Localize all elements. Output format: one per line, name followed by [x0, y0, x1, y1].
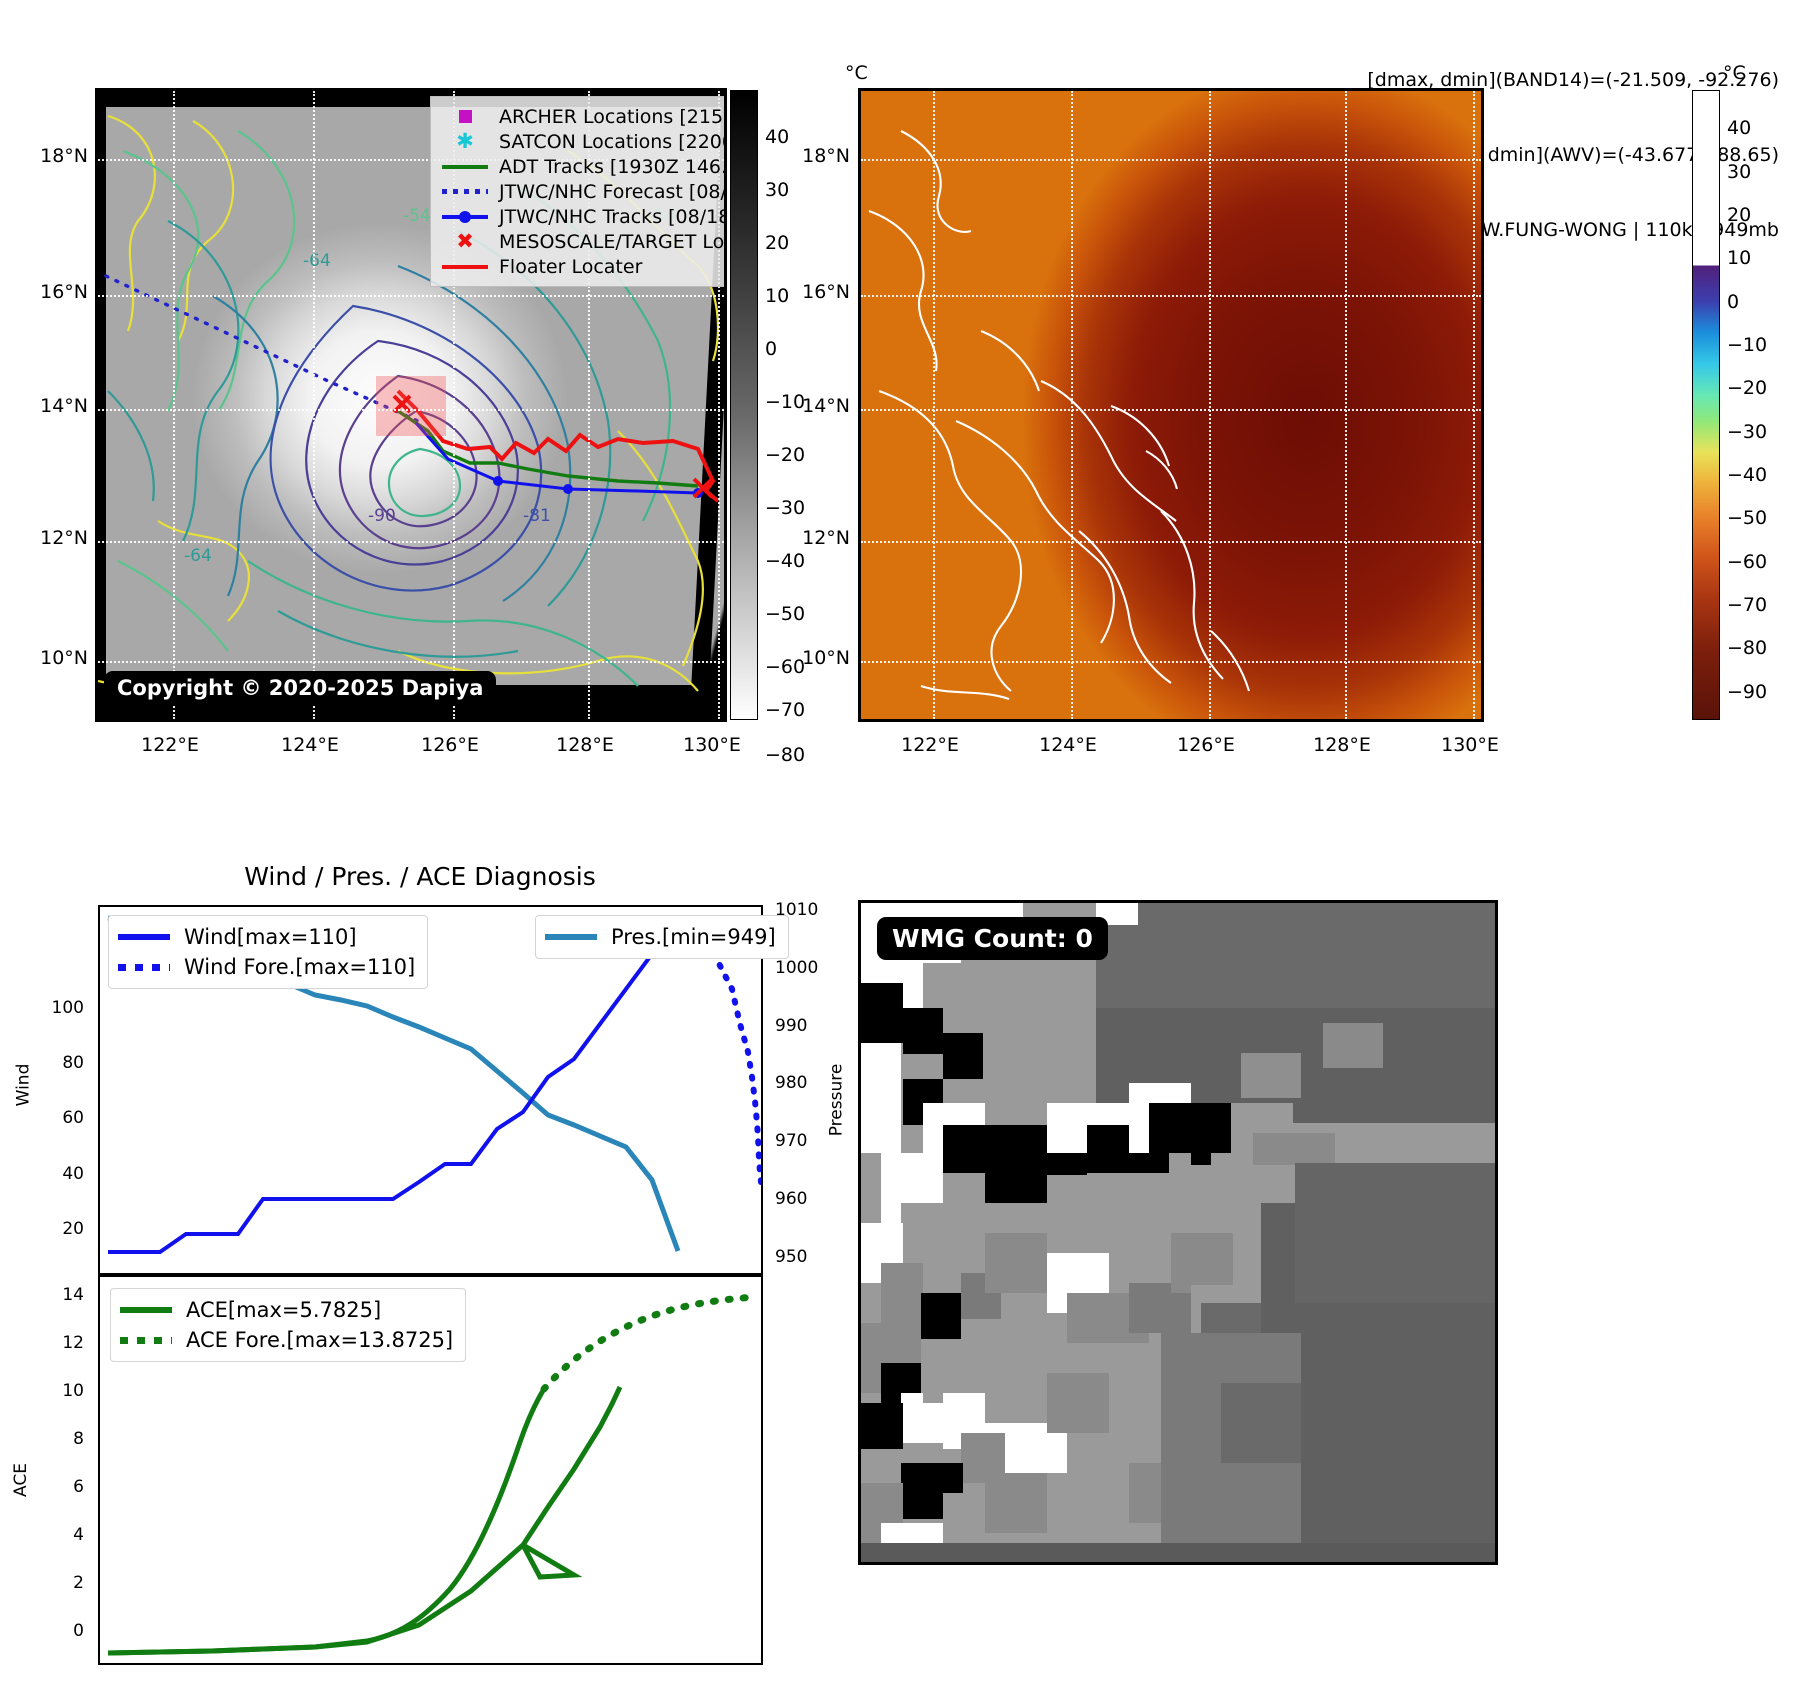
legend-label-jtwc-tracks: JTWC/NHC Tracks [08/1800Z] [499, 206, 727, 228]
satcon-star-icon: ✱ [439, 131, 491, 152]
wmg-count-badge: WMG Count: 0 [877, 917, 1108, 960]
awv-lat-18: 18°N [782, 145, 850, 167]
series-ace-solid [108, 1389, 544, 1653]
gridline-lat-10 [98, 661, 724, 663]
copyright-badge: Copyright © 2020-2025 Dapiya [104, 671, 496, 705]
awv-colorbar-unit: °C [1723, 62, 1746, 84]
diagnosis-title: Wind / Pres. / ACE Diagnosis [244, 862, 596, 891]
legend-item-floater: Floater Locater [439, 254, 727, 279]
map-left-lon-126: 126°E [421, 734, 479, 756]
ace-ytick-14: 14 [28, 1285, 84, 1305]
pressure-legend-label: Pres.[min=949] [611, 925, 776, 949]
legend-label-floater: Floater Locater [499, 256, 642, 278]
map-left-cbtick--10: −10 [765, 391, 805, 413]
awv-gridline-lon-128 [1345, 91, 1347, 719]
legend-item-jtwc-tracks: JTWC/NHC Tracks [08/1800Z] [439, 204, 727, 229]
gridline-lon-124 [313, 91, 315, 719]
pressure-legend-item: Pres.[min=949] [545, 922, 776, 952]
map-left-cbtick--50: −50 [765, 603, 805, 625]
map-left-lat-16: 16°N [20, 281, 88, 303]
awv-lon-122: 122°E [901, 734, 959, 756]
awv-cbtick--20: −20 [1727, 377, 1767, 399]
ace-ytick-6: 6 [28, 1477, 84, 1497]
awv-gridline-lat-18 [861, 159, 1481, 161]
awv-gridline-lon-126 [1209, 91, 1211, 719]
series-ace [108, 1387, 620, 1653]
jtwc-track-line-dot-icon [439, 215, 491, 219]
ace-ytick-12: 12 [28, 1333, 84, 1353]
pressure-ytick-990: 990 [775, 1016, 807, 1036]
ace-legend: ACE[max=5.7825] ACE Fore.[max=13.8725] [110, 1288, 466, 1362]
gridline-lon-122 [173, 91, 175, 719]
awv-gridline-lon-122 [933, 91, 935, 719]
wind-legend-label-forecast: Wind Fore.[max=110] [184, 955, 415, 979]
gridline-lat-16 [98, 295, 724, 297]
awv-gridline-lat-12 [861, 541, 1481, 543]
map-left-cbtick--60: −60 [765, 656, 805, 678]
ace-ytick-8: 8 [28, 1429, 84, 1449]
legend-label-mesoscale: MESOSCALE/TARGET Location [499, 231, 727, 253]
legend-label-satcon: SATCON Locations [2200Z 69 982] [499, 131, 727, 153]
wind-ytick-20: 20 [28, 1219, 84, 1239]
ace-legend-label-forecast: ACE Fore.[max=13.8725] [186, 1328, 453, 1352]
legend-item-adt: ADT Tracks [1930Z 146.0 903.0] [439, 154, 727, 179]
map-left-lat-12: 12°N [20, 527, 88, 549]
contour-label--54-a: -54 [403, 206, 431, 226]
map-left-colorbar-unit: °C [845, 62, 868, 84]
legend-item-jtwc-forecast: JTWC/NHC Forecast [08/1800Z] [439, 179, 727, 204]
floater-line-icon [439, 265, 491, 269]
wind-ytick-100: 100 [28, 998, 84, 1018]
ace-legend-item-observed: ACE[max=5.7825] [120, 1295, 453, 1325]
awv-cbtick--30: −30 [1727, 421, 1767, 443]
wind-line-icon [118, 934, 174, 940]
map-left-lat-14: 14°N [20, 395, 88, 417]
ace-ytick-10: 10 [28, 1381, 84, 1401]
map-left-lon-122: 122°E [141, 734, 199, 756]
map-left-cbtick--30: −30 [765, 497, 805, 519]
awv-lon-124: 124°E [1039, 734, 1097, 756]
awv-gridline-lon-124 [1071, 91, 1073, 719]
legend-item-mesoscale: ✖ MESOSCALE/TARGET Location [439, 229, 727, 254]
contour-label--64-a: -64 [184, 546, 212, 566]
band14-target-area-map[interactable]: -90 -81 -64 -64 -64 -54 -54 [95, 88, 727, 722]
series-ace-forecast [544, 1297, 755, 1389]
awv-gridline-lat-14 [861, 409, 1481, 411]
pressure-ytick-970: 970 [775, 1131, 807, 1151]
ace-legend-item-forecast: ACE Fore.[max=13.8725] [120, 1325, 453, 1355]
awv-gridline-lat-16 [861, 295, 1481, 297]
wind-legend-label-observed: Wind[max=110] [184, 925, 357, 949]
contour-label--64-c: -64 [303, 251, 331, 271]
pressure-ytick-1000: 1000 [775, 958, 818, 978]
map-left-cbtick--80: −80 [765, 744, 805, 766]
awv-lon-128: 128°E [1313, 734, 1371, 756]
ace-ytick-4: 4 [28, 1525, 84, 1545]
contour-label--90: -90 [368, 506, 396, 526]
pressure-ytick-960: 960 [775, 1189, 807, 1209]
map-left-cbtick-30: 30 [765, 179, 789, 201]
ace-ytick-0: 0 [28, 1621, 84, 1641]
map-left-cbtick-20: 20 [765, 232, 789, 254]
ace-forecast-dotted-icon [120, 1337, 176, 1344]
wind-forecast-dotted-icon [118, 964, 174, 971]
map-left-lat-10: 10°N [20, 647, 88, 669]
ace-ytick-2: 2 [28, 1573, 84, 1593]
legend-label-jtwc-forecast: JTWC/NHC Forecast [08/1800Z] [499, 181, 727, 203]
wind-legend-item-forecast: Wind Fore.[max=110] [118, 952, 415, 982]
awv-cbtick--40: −40 [1727, 464, 1767, 486]
wind-legend: Wind[max=110] Wind Fore.[max=110] [108, 915, 428, 989]
awv-lon-130: 130°E [1441, 734, 1499, 756]
legend-label-adt: ADT Tracks [1930Z 146.0 903.0] [499, 156, 727, 178]
awv-cbtick--10: −10 [1727, 334, 1767, 356]
awv-coastlines-overlay [861, 91, 1484, 722]
awv-lat-16: 16°N [782, 281, 850, 303]
awv-gridline-lat-10 [861, 661, 1481, 663]
mesoscale-cross-icon: ✖ [439, 231, 491, 252]
awv-map[interactable] [858, 88, 1484, 722]
map-legend: ARCHER Locations [2158Z] ✱ SATCON Locati… [430, 96, 727, 287]
map-left-cbtick-0: 0 [765, 338, 777, 360]
contour-label--81: -81 [523, 506, 551, 526]
ace-legend-label-observed: ACE[max=5.7825] [186, 1298, 381, 1322]
adt-line-icon [439, 165, 491, 169]
awv-cbtick--80: −80 [1727, 637, 1767, 659]
pressure-ytick-950: 950 [775, 1247, 807, 1267]
pressure-line-icon [545, 934, 601, 940]
wind-ytick-60: 60 [28, 1108, 84, 1128]
archer-square-icon [439, 110, 491, 123]
map-left-cbtick--40: −40 [765, 550, 805, 572]
awv-cbtick--50: −50 [1727, 507, 1767, 529]
awv-colorbar [1692, 90, 1720, 720]
wmg-panel[interactable]: WMG Count: 0 [858, 900, 1498, 1565]
jtwc-forecast-dotted-icon [439, 189, 491, 194]
pressure-legend: Pres.[min=949] [535, 915, 789, 959]
awv-lat-12: 12°N [782, 527, 850, 549]
map-left-cbtick--20: −20 [765, 444, 805, 466]
awv-cbtick--60: −60 [1727, 551, 1767, 573]
mesoscale-target-box [376, 376, 446, 436]
awv-gridline-lon-130 [1473, 91, 1475, 719]
gridline-lat-12 [98, 541, 724, 543]
awv-cbtick-10: 10 [1727, 247, 1751, 269]
legend-item-satcon: ✱ SATCON Locations [2200Z 69 982] [439, 129, 727, 154]
wind-ytick-40: 40 [28, 1164, 84, 1184]
map-left-cbtick--70: −70 [765, 699, 805, 721]
map-left-lon-130: 130°E [683, 734, 741, 756]
legend-label-archer: ARCHER Locations [2158Z] [499, 106, 727, 128]
map-left-lat-18: 18°N [20, 145, 88, 167]
legend-item-archer: ARCHER Locations [2158Z] [439, 104, 727, 129]
wmg-raster [861, 903, 1497, 1564]
awv-cbtick-30: 30 [1727, 161, 1751, 183]
awv-lon-126: 126°E [1177, 734, 1235, 756]
ace-line-icon [120, 1307, 176, 1313]
map-left-lon-128: 128°E [556, 734, 614, 756]
pressure-axis-label: Pressure [826, 1064, 846, 1137]
awv-cbtick--70: −70 [1727, 594, 1767, 616]
map-left-cbtick-10: 10 [765, 285, 789, 307]
map-left-lon-124: 124°E [281, 734, 339, 756]
wind-legend-item-observed: Wind[max=110] [118, 922, 415, 952]
awv-cbtick--90: −90 [1727, 681, 1767, 703]
awv-cbtick-20: 20 [1727, 204, 1751, 226]
map-left-cbtick-40: 40 [765, 126, 789, 148]
gridline-lat-14 [98, 409, 724, 411]
awv-cbtick-40: 40 [1727, 117, 1751, 139]
map-left-colorbar [730, 90, 758, 720]
pressure-ytick-980: 980 [775, 1073, 807, 1093]
awv-cbtick-0: 0 [1727, 291, 1739, 313]
wind-ytick-80: 80 [28, 1053, 84, 1073]
